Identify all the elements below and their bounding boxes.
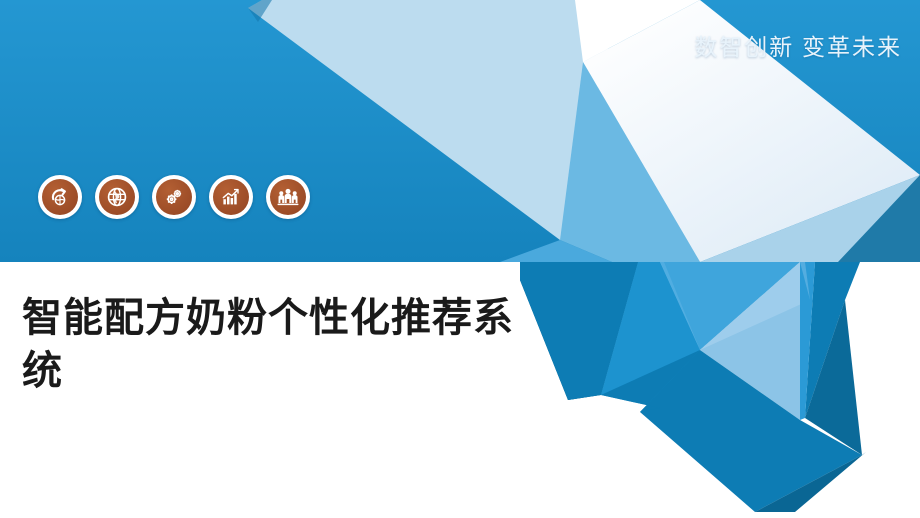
presentation-slide: 数智创新 变革未来	[0, 0, 920, 518]
gears-icon	[156, 179, 192, 215]
slide-subtitle: 数智创新 变革未来	[694, 28, 902, 62]
people-group-icon	[270, 179, 306, 215]
bar-chart-icon	[213, 179, 249, 215]
icon-badge-globe	[95, 175, 139, 219]
globe-icon	[99, 179, 135, 215]
icon-badge-bar-chart	[209, 175, 253, 219]
icon-badge-gears	[152, 175, 196, 219]
recycle-globe-icon	[42, 179, 78, 215]
background-graphic	[0, 0, 920, 518]
slide-title: 智能配方奶粉个性化推荐系统	[22, 292, 542, 398]
icon-badge-recycle-globe	[38, 175, 82, 219]
icon-row	[38, 175, 310, 219]
icon-badge-people-group	[266, 175, 310, 219]
title-block: 智能配方奶粉个性化推荐系统	[22, 292, 542, 398]
